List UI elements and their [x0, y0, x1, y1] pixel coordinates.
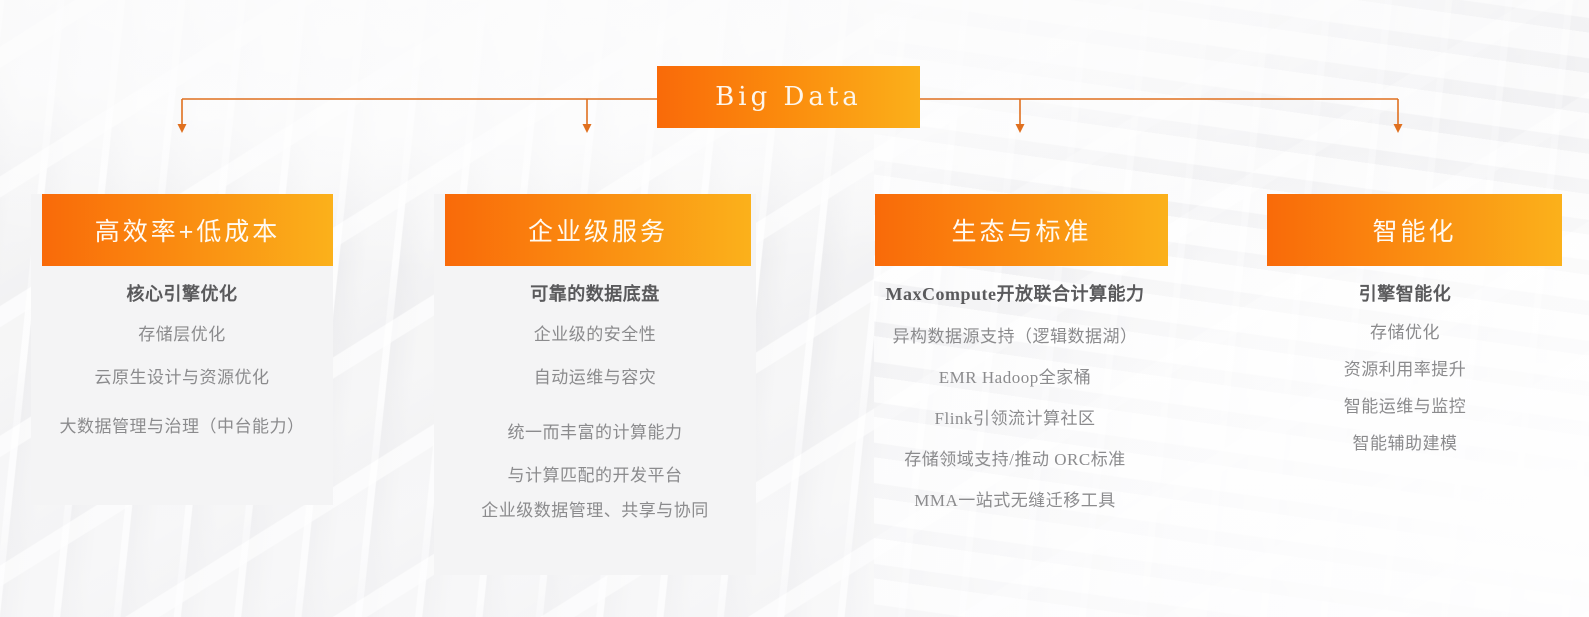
column-item: 存储层优化	[31, 320, 333, 345]
column-title: 生态与标准	[951, 212, 1091, 248]
column-item-heading: 核心引擎优化	[31, 280, 333, 306]
column-item: 异构数据源支持（逻辑数据湖）	[855, 322, 1175, 347]
column-item-list: 可靠的数据底盘企业级的安全性自动运维与容灾统一而丰富的计算能力与计算匹配的开发平…	[434, 280, 756, 521]
column-item-heading: MaxCompute开放联合计算能力	[855, 280, 1175, 306]
column-item: 资源利用率提升	[1248, 355, 1562, 380]
column-header[interactable]: 企业级服务	[445, 194, 751, 266]
connector-arrowhead-1	[178, 124, 187, 133]
column-item: MMA一站式无缝迁移工具	[855, 486, 1175, 511]
column-item: 大数据管理与治理（中台能力）	[31, 412, 333, 437]
column-item-heading: 可靠的数据底盘	[434, 280, 756, 306]
column-title: 企业级服务	[528, 212, 668, 248]
column-item: 存储优化	[1248, 318, 1562, 343]
column-item: 自动运维与容灾	[434, 363, 756, 388]
connector-arrowhead-3	[1016, 124, 1025, 133]
column-item: 存储领域支持/推动 ORC标准	[855, 445, 1175, 470]
column-header[interactable]: 生态与标准	[875, 194, 1168, 266]
column-item-list: 引擎智能化存储优化资源利用率提升智能运维与监控智能辅助建模	[1248, 280, 1562, 454]
root-node-label: Big Data	[715, 82, 862, 112]
column-item: 企业级的安全性	[434, 320, 756, 345]
column-title: 高效率+低成本	[95, 212, 281, 248]
column-title: 智能化	[1372, 212, 1456, 248]
column-header[interactable]: 高效率+低成本	[42, 194, 333, 266]
column-item: 智能辅助建模	[1248, 429, 1562, 454]
column-item: Flink引领流计算社区	[855, 404, 1175, 429]
connector-arrowhead-4	[1394, 124, 1403, 133]
column-header[interactable]: 智能化	[1267, 194, 1562, 266]
column-item: 云原生设计与资源优化	[31, 363, 333, 388]
connector-arrowhead-2	[583, 124, 592, 133]
column-item: 智能运维与监控	[1248, 392, 1562, 417]
column-item-list: 核心引擎优化存储层优化云原生设计与资源优化大数据管理与治理（中台能力）	[31, 280, 333, 437]
column-item: 统一而丰富的计算能力	[434, 418, 756, 443]
root-node-big-data[interactable]: Big Data	[657, 66, 920, 128]
column-item-list: MaxCompute开放联合计算能力异构数据源支持（逻辑数据湖）EMR Hado…	[855, 280, 1175, 511]
column-item: EMR Hadoop全家桶	[855, 363, 1175, 388]
column-item: 与计算匹配的开发平台	[434, 461, 756, 486]
column-item: 企业级数据管理、共享与协同	[434, 496, 756, 521]
column-item-heading: 引擎智能化	[1248, 280, 1562, 306]
